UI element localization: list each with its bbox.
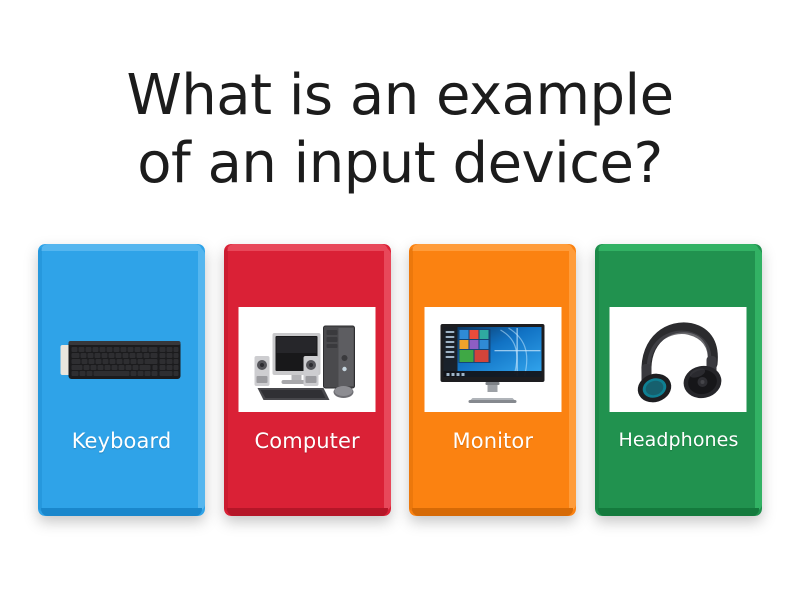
answer-image-frame — [239, 307, 376, 412]
answer-card-keyboard[interactable]: Keyboard — [38, 244, 205, 516]
card-content: Monitor — [409, 244, 576, 516]
headphones-image — [614, 312, 742, 408]
answer-label: Computer — [224, 429, 391, 453]
answer-image-frame — [610, 307, 747, 412]
card-content: Computer — [224, 244, 391, 516]
answer-card-monitor[interactable]: Monitor — [409, 244, 576, 516]
monitor-image — [429, 312, 557, 408]
answer-label: Keyboard — [38, 429, 205, 453]
answer-card-computer[interactable]: Computer — [224, 244, 391, 516]
answer-label: Monitor — [409, 429, 576, 453]
quiz-slide: What is an example of an input device? — [0, 0, 800, 600]
answer-options-row: Keyboard — [38, 244, 762, 516]
answer-label: Headphones — [595, 429, 762, 451]
desktop-computer-image — [243, 312, 371, 408]
keyboard-image — [61, 339, 183, 381]
question-text: What is an example of an input device? — [0, 62, 800, 198]
answer-image-frame — [53, 307, 190, 412]
card-content: Headphones — [595, 244, 762, 516]
answer-image-frame — [424, 307, 561, 412]
card-content: Keyboard — [38, 244, 205, 516]
answer-card-headphones[interactable]: Headphones — [595, 244, 762, 516]
